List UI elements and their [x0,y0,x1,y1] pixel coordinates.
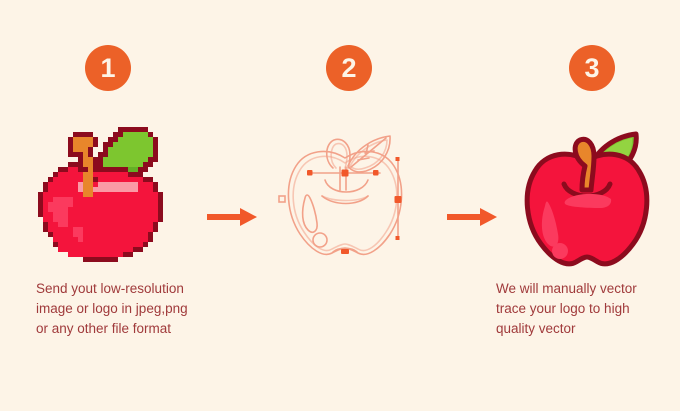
arrow-shaft [447,214,483,220]
step-1-caption: Send yout low-resolution image or logo i… [36,279,236,339]
anchor-handles [279,196,285,202]
step-column-1: 1 [0,0,226,411]
vector-wireframe-apple-icon [270,118,420,273]
arrow-shaft [207,214,243,220]
arrow-step-2-to-3 [447,206,503,228]
infographic-canvas: 1 [0,0,680,411]
pixel-apple-icon [28,122,198,272]
apple-highlight-dot [552,243,568,259]
wireframe-apple-illustration [228,118,454,273]
step-2-badge: 2 [326,45,372,91]
step-3-badge: 3 [569,45,615,91]
vector-apple-illustration [456,118,680,273]
arrow-head [240,208,257,226]
clean-vector-apple-icon [512,120,662,272]
arrow-step-1-to-2 [207,206,263,228]
pixelated-apple-illustration [0,118,226,273]
step-1-badge: 1 [85,45,131,91]
arrow-head [480,208,497,226]
